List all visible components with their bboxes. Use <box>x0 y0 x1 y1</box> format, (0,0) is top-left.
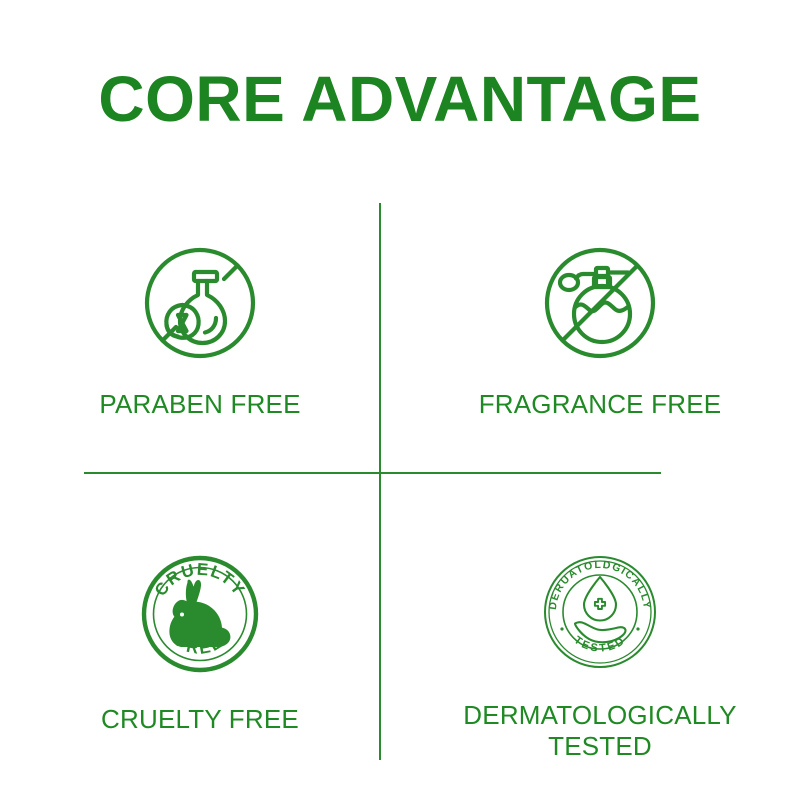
badge-arc-text-bottom: TESTED <box>572 634 629 655</box>
svg-text:CRUELTY: CRUELTY <box>151 560 249 600</box>
feature-caption: CRUELTY FREE <box>101 704 299 735</box>
no-paraben-flask-icon <box>136 239 264 367</box>
badge-arc-text-top: DERUATOLDGICALLY <box>547 559 653 611</box>
feature-caption: PARABEN FREE <box>99 389 300 420</box>
cruelty-free-rabbit-badge-icon: CRUELTY FREE <box>138 552 262 676</box>
no-fragrance-perfume-icon <box>536 239 664 367</box>
feature-caption: FRAGRANCE FREE <box>479 389 722 420</box>
dermatologically-tested-droplet-hand-badge-icon: DERUATOLDGICALLY TESTED <box>538 552 662 672</box>
feature-caption: DERMATOLOGICALLY TESTED <box>463 700 736 762</box>
svg-text:TESTED: TESTED <box>572 634 629 655</box>
feature-paraben-free: PARABEN FREE <box>0 215 400 472</box>
feature-fragrance-free: FRAGRANCE FREE <box>400 215 800 472</box>
feature-cruelty-free: CRUELTY FREE CRUELTY FREE <box>0 472 400 760</box>
feature-dermatologically-tested: DERUATOLDGICALLY TESTED DERMATOLOGICALLY… <box>400 472 800 760</box>
core-advantage-infographic: CORE ADVANTAGE <box>0 0 800 800</box>
page-title: CORE ADVANTAGE <box>0 64 800 134</box>
feature-grid: PARABEN FREE <box>0 215 800 760</box>
svg-text:DERUATOLDGICALLY: DERUATOLDGICALLY <box>547 559 653 611</box>
